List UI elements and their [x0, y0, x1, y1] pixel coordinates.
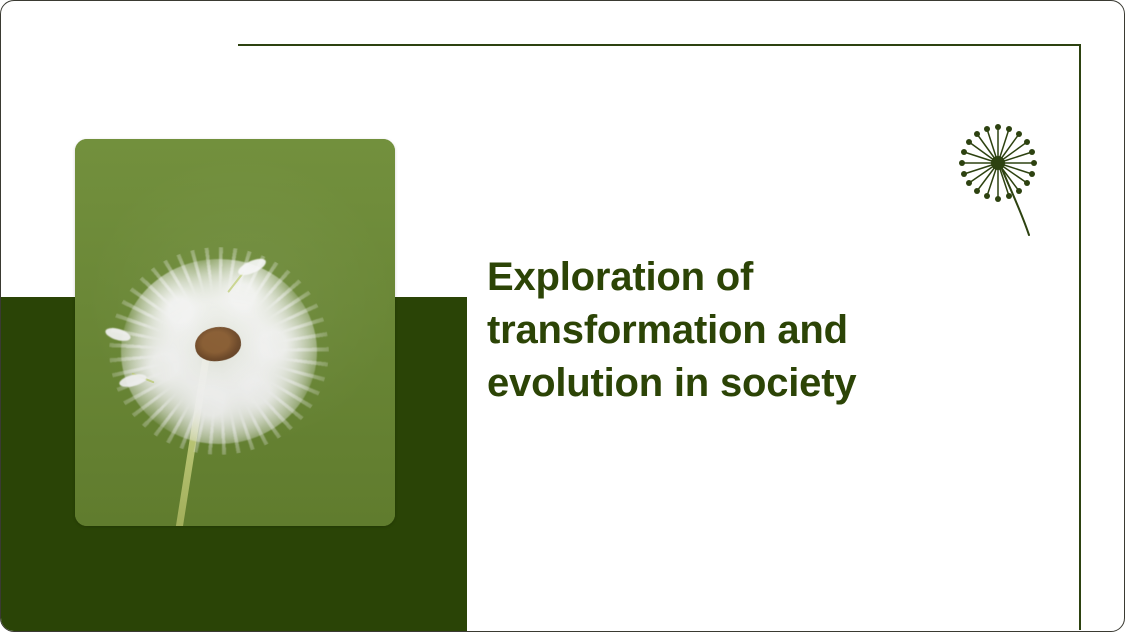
- image-card: [75, 139, 395, 526]
- dandelion-photo: [75, 139, 395, 526]
- decorative-rule-right: [1079, 44, 1081, 630]
- decorative-rule-top: [238, 44, 1081, 46]
- dandelion-icon: [949, 113, 1055, 243]
- slide-title: Exploration of transformation and evolut…: [487, 251, 957, 410]
- title-block: Exploration of transformation and evolut…: [487, 251, 957, 410]
- slide-canvas: Exploration of transformation and evolut…: [0, 0, 1125, 632]
- photo-tone-overlay: [75, 139, 395, 526]
